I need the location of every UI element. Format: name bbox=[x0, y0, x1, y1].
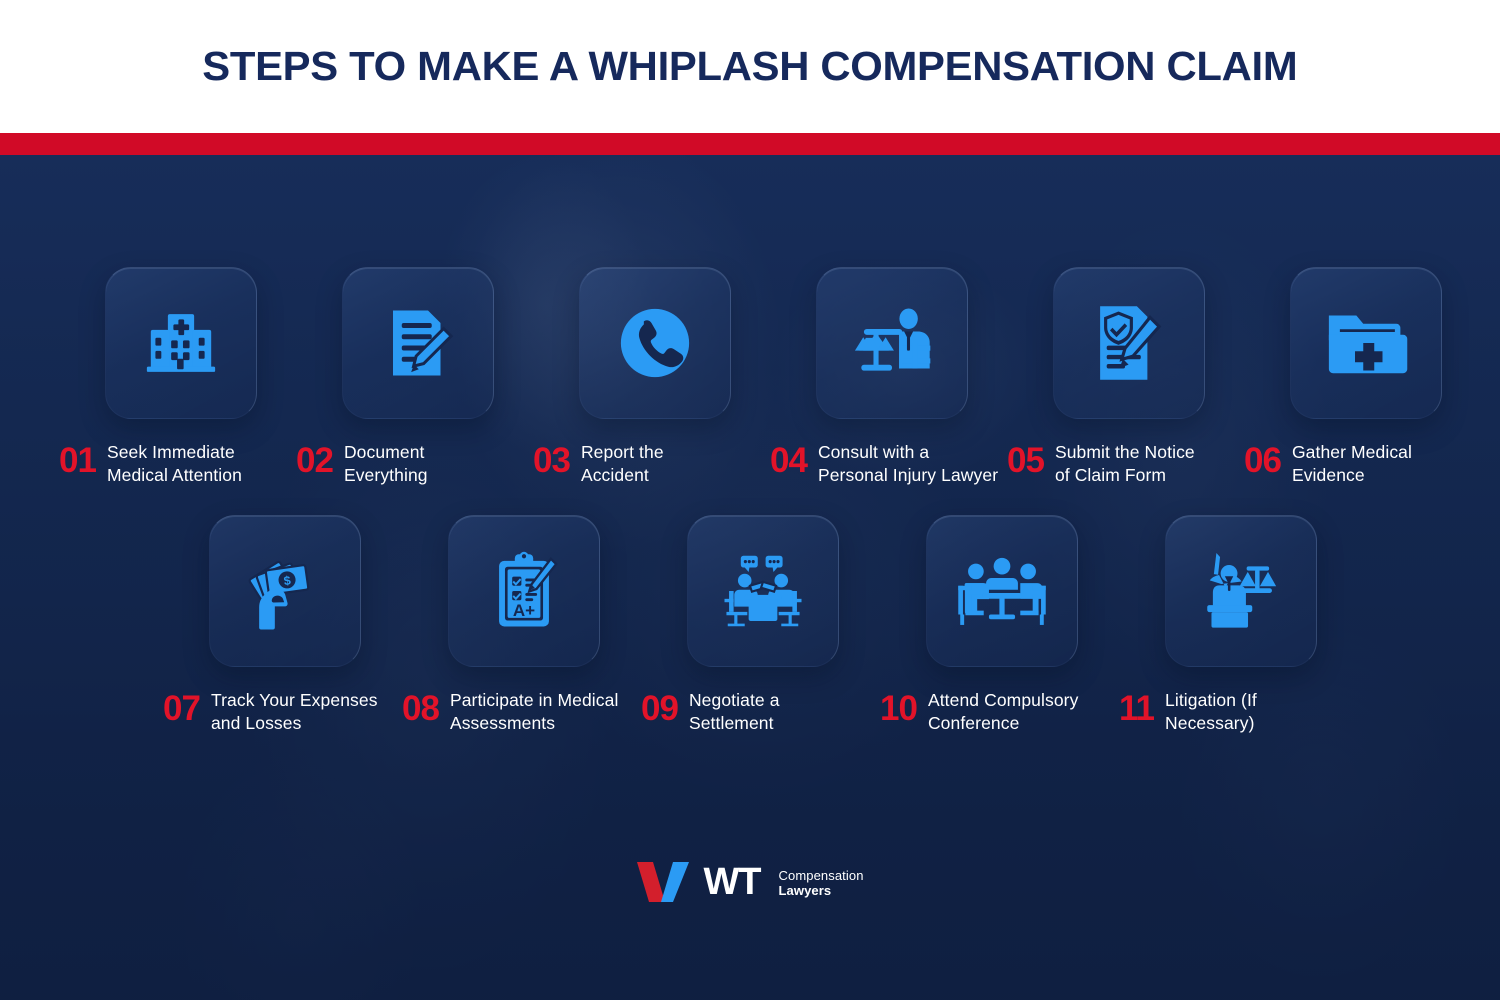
step-caption-01: 01 Seek Immediate Medical Attention bbox=[59, 441, 242, 486]
step-number-04: 04 bbox=[770, 443, 807, 478]
steps-row-bottom: $ 07 Track Your Expenses and Losses bbox=[0, 515, 1500, 734]
step-caption-04: 04 Consult with a Personal Injury Lawyer bbox=[770, 441, 998, 486]
step-icon-tile-11 bbox=[1165, 515, 1317, 667]
step-caption-05: 05 Submit the Notice of Claim Form bbox=[1007, 441, 1195, 486]
step-icon-tile-10 bbox=[926, 515, 1078, 667]
step-number-05: 05 bbox=[1007, 443, 1044, 478]
step-label-09: Negotiate a Settlement bbox=[689, 689, 780, 734]
step-icon-tile-09 bbox=[687, 515, 839, 667]
header-band: STEPS TO MAKE A WHIPLASH COMPENSATION CL… bbox=[0, 0, 1500, 133]
medical-folder-icon bbox=[1322, 299, 1410, 387]
footer-logo: WT Compensation Lawyers bbox=[0, 860, 1500, 904]
step-label-02: Document Everything bbox=[344, 441, 428, 486]
step-icon-tile-03 bbox=[579, 267, 731, 419]
header-red-divider bbox=[0, 133, 1500, 155]
step-icon-tile-06 bbox=[1290, 267, 1442, 419]
step-caption-06: 06 Gather Medical Evidence bbox=[1244, 441, 1412, 486]
document-pencil-icon bbox=[378, 303, 458, 383]
step-label-07: Track Your Expenses and Losses bbox=[211, 689, 378, 734]
step-label-06: Gather Medical Evidence bbox=[1292, 441, 1412, 486]
infographic-stage: 01 Seek Immediate Medical Attention bbox=[0, 155, 1500, 1000]
step-number-02: 02 bbox=[296, 443, 333, 478]
step-card-04[interactable]: 04 Consult with a Personal Injury Lawyer bbox=[768, 267, 1005, 486]
step-caption-10: 10 Attend Compulsory Conference bbox=[880, 689, 1078, 734]
phone-call-icon bbox=[613, 301, 697, 385]
step-icon-tile-05 bbox=[1053, 267, 1205, 419]
step-card-07[interactable]: $ 07 Track Your Expenses and Losses bbox=[161, 515, 400, 734]
clipboard-grade-icon: A+ bbox=[482, 549, 566, 633]
courtroom-advocate-icon bbox=[1196, 546, 1286, 636]
step-number-09: 09 bbox=[641, 691, 678, 726]
step-number-10: 10 bbox=[880, 691, 917, 726]
step-caption-09: 09 Negotiate a Settlement bbox=[641, 689, 780, 734]
step-number-11: 11 bbox=[1119, 691, 1154, 726]
step-icon-tile-07: $ bbox=[209, 515, 361, 667]
step-number-08: 08 bbox=[402, 691, 439, 726]
conference-meeting-icon bbox=[955, 544, 1049, 638]
logo-tagline-line2: Lawyers bbox=[779, 883, 864, 898]
step-card-08[interactable]: A+ 08 Participate in Medical Assessments bbox=[400, 515, 639, 734]
page-title: STEPS TO MAKE A WHIPLASH COMPENSATION CL… bbox=[202, 43, 1297, 90]
step-caption-08: 08 Participate in Medical Assessments bbox=[402, 689, 618, 734]
logo-tagline: Compensation Lawyers bbox=[779, 868, 864, 899]
step-label-01: Seek Immediate Medical Attention bbox=[107, 441, 242, 486]
step-icon-tile-02 bbox=[342, 267, 494, 419]
step-card-03[interactable]: 03 Report the Accident bbox=[531, 267, 768, 486]
svg-text:A+: A+ bbox=[513, 601, 535, 620]
cash-in-hand-icon: $ bbox=[241, 547, 329, 635]
step-label-08: Participate in Medical Assessments bbox=[450, 689, 619, 734]
step-label-05: Submit the Notice of Claim Form bbox=[1055, 441, 1195, 486]
step-caption-11: 11 Litigation (If Necessary) bbox=[1119, 689, 1257, 734]
step-number-07: 07 bbox=[163, 691, 200, 726]
lawyer-scales-icon bbox=[846, 297, 938, 389]
step-card-10[interactable]: 10 Attend Compulsory Conference bbox=[878, 515, 1117, 734]
step-card-06[interactable]: 06 Gather Medical Evidence bbox=[1242, 267, 1479, 486]
step-icon-tile-01 bbox=[105, 267, 257, 419]
step-caption-07: 07 Track Your Expenses and Losses bbox=[163, 689, 378, 734]
step-caption-03: 03 Report the Accident bbox=[533, 441, 664, 486]
step-label-04: Consult with a Personal Injury Lawyer bbox=[818, 441, 998, 486]
logo-wordmark: WT bbox=[703, 863, 760, 901]
step-icon-tile-08: A+ bbox=[448, 515, 600, 667]
step-card-01[interactable]: 01 Seek Immediate Medical Attention bbox=[57, 267, 294, 486]
step-number-06: 06 bbox=[1244, 443, 1281, 478]
step-number-01: 01 bbox=[59, 443, 96, 478]
step-card-11[interactable]: 11 Litigation (If Necessary) bbox=[1117, 515, 1356, 734]
negotiation-table-icon bbox=[716, 544, 810, 638]
hospital-icon bbox=[139, 301, 223, 385]
steps-row-top: 01 Seek Immediate Medical Attention bbox=[0, 267, 1500, 486]
claim-form-shield-icon bbox=[1087, 301, 1171, 385]
step-number-03: 03 bbox=[533, 443, 570, 478]
step-label-11: Litigation (If Necessary) bbox=[1165, 689, 1257, 734]
step-caption-02: 02 Document Everything bbox=[296, 441, 428, 486]
step-label-10: Attend Compulsory Conference bbox=[928, 689, 1079, 734]
wt-logo-mark-icon bbox=[636, 860, 696, 904]
step-card-05[interactable]: 05 Submit the Notice of Claim Form bbox=[1005, 267, 1242, 486]
logo-tagline-line1: Compensation bbox=[779, 868, 864, 883]
step-card-02[interactable]: 02 Document Everything bbox=[294, 267, 531, 486]
step-label-03: Report the Accident bbox=[581, 441, 664, 486]
step-icon-tile-04 bbox=[816, 267, 968, 419]
step-card-09[interactable]: 09 Negotiate a Settlement bbox=[639, 515, 878, 734]
